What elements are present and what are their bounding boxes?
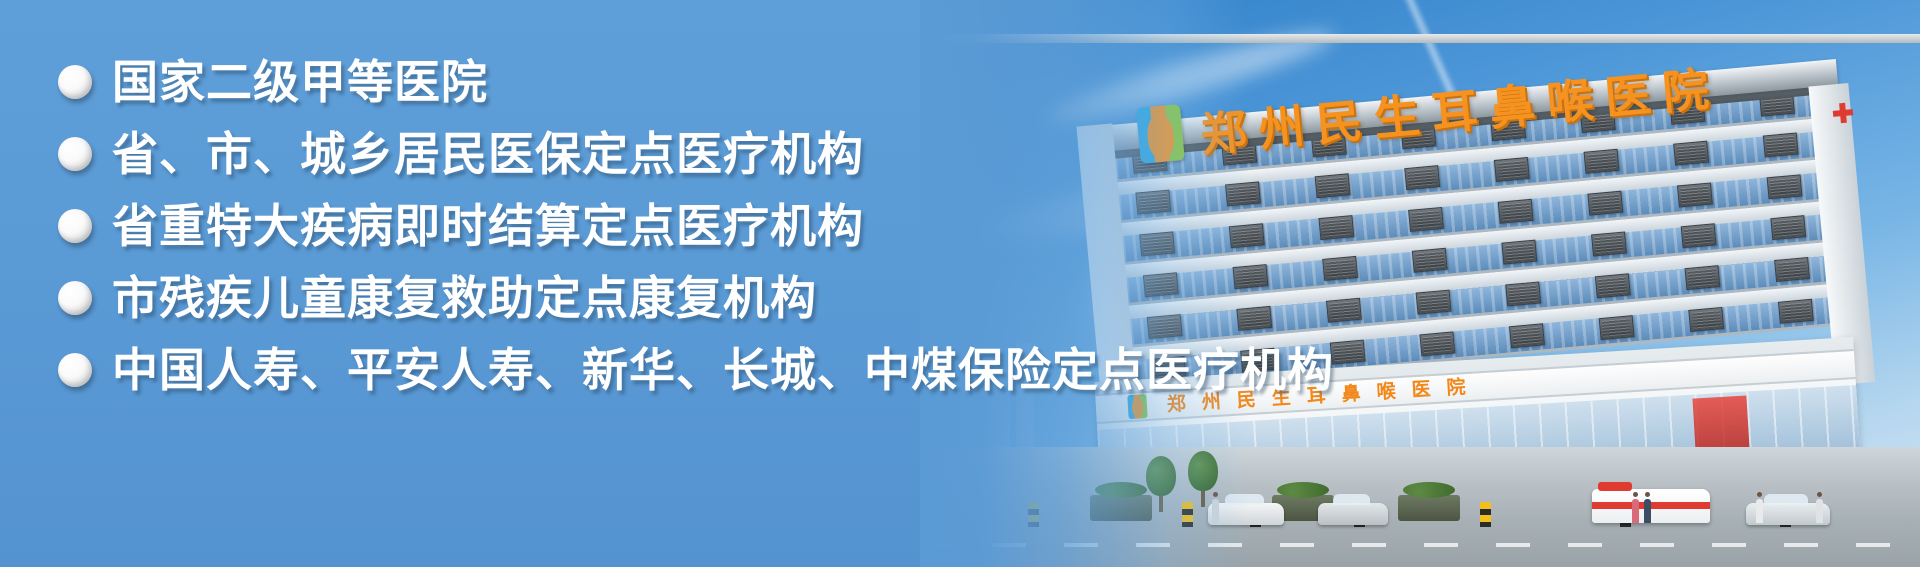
list-item: 省、市、城乡居民医保定点医疗机构 [58,118,1320,190]
qualification-list: 国家二级甲等医院 省、市、城乡居民医保定点医疗机构 省重特大疾病即时结算定点医疗… [0,0,1320,567]
bullet-icon [58,65,92,99]
rooftop-sign-char: 医 [1603,71,1653,121]
bullet-icon [58,137,92,171]
entrance-sign-char: 喉 [1376,382,1396,402]
bullet-icon [58,281,92,315]
qualification-text: 国家二级甲等医院 [112,59,488,105]
qualification-text: 中国人寿、平安人寿、新华、长城、中煤保险定点医疗机构 [112,347,1334,393]
rooftop-sign-char: 民 [1314,98,1364,148]
rooftop-sign-char: 鼻 [1487,82,1537,132]
car-icon [1318,503,1388,525]
qualification-text: 市残疾儿童康复救助定点康复机构 [112,275,817,321]
entrance-sign-char: 鼻 [1341,384,1361,404]
list-item: 中国人寿、平安人寿、新华、长城、中煤保险定点医疗机构 [58,334,1320,406]
medical-cross-icon [1831,101,1855,125]
list-item: 市残疾儿童康复救助定点康复机构 [58,262,1320,334]
rooftop-sign-char: 耳 [1430,87,1480,137]
bullet-icon [58,209,92,243]
bullet-icon [58,353,92,387]
bollard-icon [1480,502,1491,527]
entrance-sign-char: 医 [1411,380,1431,400]
qualification-text: 省、市、城乡居民医保定点医疗机构 [112,131,864,177]
hospital-qualification-banner: 郑 州 民 生 耳 鼻 喉 医 院 [0,0,1920,567]
planter-box [1398,495,1460,521]
entrance-sign-char: 院 [1446,378,1466,398]
rooftop-sign-char: 生 [1372,92,1422,142]
pedestrian-icon [1756,499,1763,523]
ambulance-icon [1592,489,1710,523]
qualification-text: 省重特大疾病即时结算定点医疗机构 [112,203,864,249]
list-item: 省重特大疾病即时结算定点医疗机构 [58,190,1320,262]
rooftop-sign-char: 喉 [1545,77,1595,127]
list-item: 国家二级甲等医院 [58,46,1320,118]
rooftop-sign-char: 院 [1661,66,1711,116]
pedestrian-icon [1644,499,1651,523]
pedestrian-icon [1816,499,1823,523]
pedestrian-icon [1632,499,1639,523]
